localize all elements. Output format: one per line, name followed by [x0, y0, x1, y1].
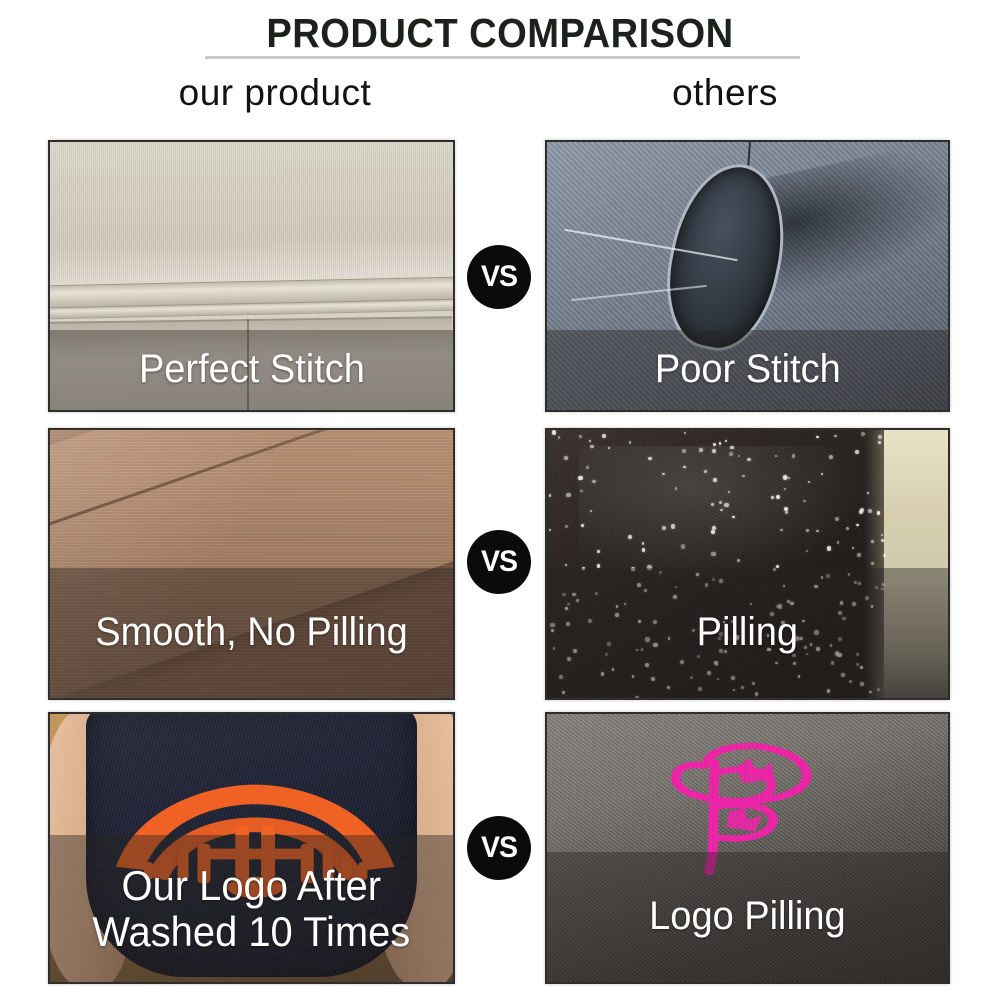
caption-overlay: Pilling	[547, 568, 948, 698]
vs-badge-label: VS	[481, 831, 517, 865]
caption-label: Pilling	[691, 611, 804, 654]
caption-label: Our Logo After Washed 10 Times	[87, 863, 416, 954]
vs-badge-label: VS	[481, 260, 517, 294]
caption-overlay: Logo Pilling	[547, 852, 948, 982]
caption-label: Poor Stitch	[649, 348, 846, 391]
vs-badge-row3: VS	[467, 816, 531, 880]
vs-badge-row2: VS	[467, 530, 531, 594]
comparison-panel-our-stitch: Perfect Stitch	[48, 140, 455, 412]
comparison-panel-other-pilling: Pilling	[545, 428, 950, 700]
caption-overlay: Smooth, No Pilling	[50, 568, 453, 698]
comparison-panel-our-pilling: Smooth, No Pilling	[48, 428, 455, 700]
comparison-panel-other-logo: Logo Pilling	[545, 712, 950, 984]
caption-overlay: Our Logo After Washed 10 Times	[50, 835, 453, 982]
header: PRODUCT COMPARISON our product others	[0, 0, 1000, 130]
caption-label: Logo Pilling	[644, 895, 852, 938]
column-header-our-product: our product	[95, 72, 455, 114]
caption-label: Perfect Stitch	[133, 348, 370, 391]
caption-overlay: Poor Stitch	[547, 330, 948, 410]
comparison-panel-our-logo: Our Logo After Washed 10 Times	[48, 712, 455, 984]
title-underline	[205, 56, 800, 59]
page-title: PRODUCT COMPARISON	[35, 10, 965, 57]
comparison-panel-other-stitch: Poor Stitch	[545, 140, 950, 412]
vs-badge-label: VS	[481, 545, 517, 579]
column-header-others: others	[545, 72, 905, 114]
caption-label: Smooth, No Pilling	[89, 611, 413, 654]
vs-badge-row1: VS	[467, 245, 531, 309]
caption-overlay: Perfect Stitch	[50, 330, 453, 410]
